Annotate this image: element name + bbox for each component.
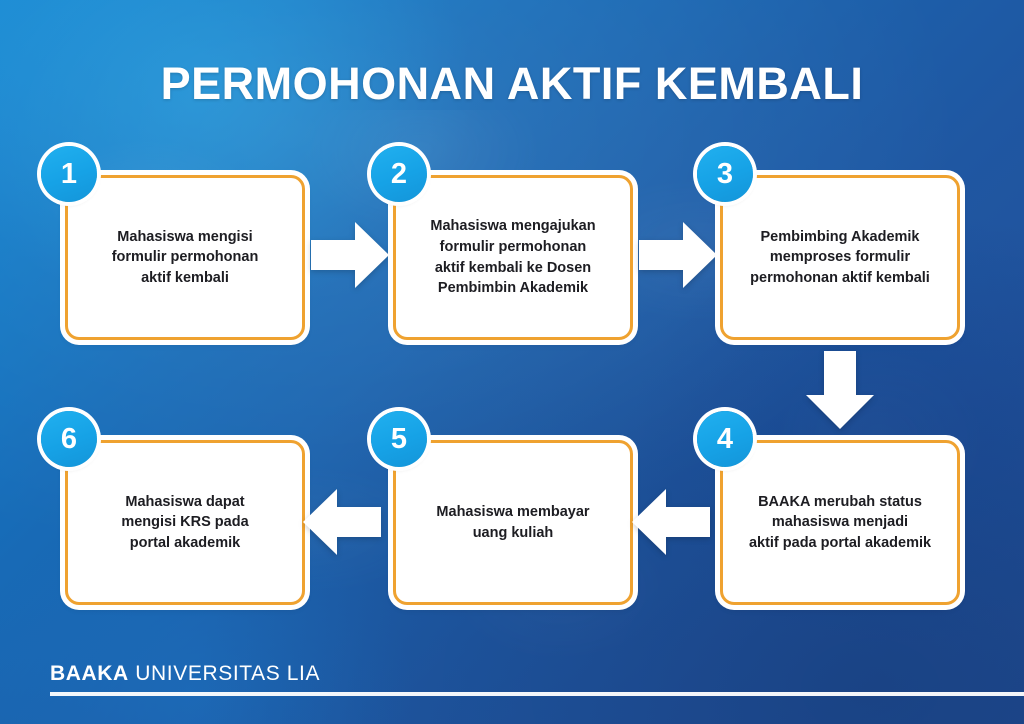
arrow-step2-to-step3	[639, 222, 717, 288]
step-card-6: Mahasiswa dapat mengisi KRS pada portal …	[65, 440, 305, 605]
step-badge-6-number: 6	[61, 425, 77, 454]
infographic-canvas: PERMOHONAN AKTIF KEMBALI Mahasiswa mengi…	[0, 0, 1024, 724]
footer-organization: UNIVERSITAS LIA	[135, 662, 320, 685]
arrow-step3-to-step4	[806, 351, 874, 429]
step-badge-5: 5	[371, 411, 427, 467]
step-badge-3: 3	[697, 146, 753, 202]
step-card-3-text: Pembimbing Akademik memproses formulir p…	[750, 227, 930, 289]
arrow-step4-to-step5	[632, 489, 710, 555]
step-badge-1: 1	[41, 146, 97, 202]
step-card-2: Mahasiswa mengajukan formulir permohonan…	[393, 175, 633, 340]
step-card-6-text: Mahasiswa dapat mengisi KRS pada portal …	[121, 492, 248, 554]
step-card-4-text: BAAKA merubah status mahasiswa menjadi a…	[749, 492, 931, 554]
footer-branding: BAAKA UNIVERSITAS LIA	[50, 662, 320, 686]
footer-divider	[50, 692, 1024, 696]
step-card-2-text: Mahasiswa mengajukan formulir permohonan…	[430, 216, 595, 298]
footer-brand: BAAKA	[50, 662, 129, 685]
step-badge-5-number: 5	[391, 425, 407, 454]
step-badge-3-number: 3	[717, 160, 733, 189]
step-badge-1-number: 1	[61, 160, 77, 189]
arrow-step5-to-step6	[303, 489, 381, 555]
step-badge-4-number: 4	[717, 425, 733, 454]
step-card-4: BAAKA merubah status mahasiswa menjadi a…	[720, 440, 960, 605]
step-card-5-text: Mahasiswa membayar uang kuliah	[436, 502, 589, 543]
step-badge-2-number: 2	[391, 160, 407, 189]
step-card-5: Mahasiswa membayar uang kuliah	[393, 440, 633, 605]
step-badge-4: 4	[697, 411, 753, 467]
page-title: PERMOHONAN AKTIF KEMBALI	[0, 58, 1024, 110]
step-card-1-text: Mahasiswa mengisi formulir permohonan ak…	[112, 227, 259, 289]
step-card-1: Mahasiswa mengisi formulir permohonan ak…	[65, 175, 305, 340]
step-card-3: Pembimbing Akademik memproses formulir p…	[720, 175, 960, 340]
arrow-step1-to-step2	[311, 222, 389, 288]
step-badge-6: 6	[41, 411, 97, 467]
step-badge-2: 2	[371, 146, 427, 202]
